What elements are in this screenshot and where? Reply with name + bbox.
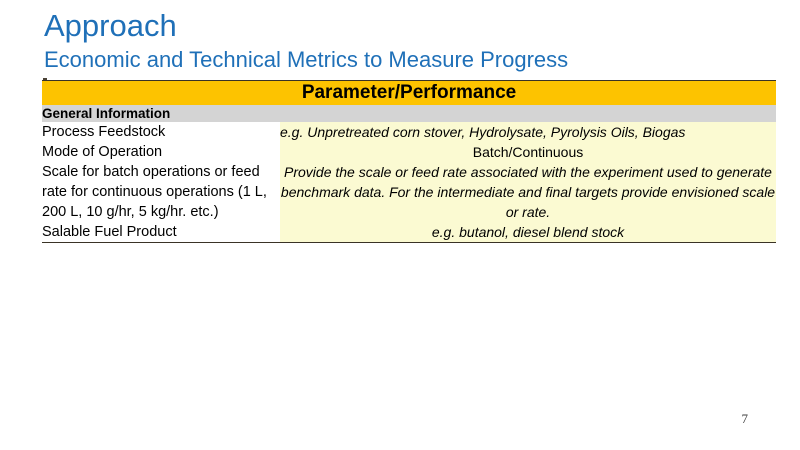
row-value-salable-fuel-product: e.g. butanol, diesel blend stock — [280, 222, 776, 243]
section-label-cell: General Information — [42, 105, 776, 122]
table-row: Scale for batch operations or feed rate … — [42, 162, 776, 222]
row-label-process-feedstock: Process Feedstock — [42, 122, 280, 142]
row-label-scale-or-feed-rate: Scale for batch operations or feed rate … — [42, 162, 280, 222]
row-value-scale-or-feed-rate: Provide the scale or feed rate associate… — [280, 162, 776, 222]
row-label-mode-of-operation: Mode of Operation — [42, 142, 280, 162]
slide-heading: Approach Economic and Technical Metrics … — [44, 8, 784, 74]
page-title: Approach — [44, 8, 784, 44]
page-number: 7 — [742, 411, 749, 427]
table-header-cell: Parameter/Performance — [42, 81, 776, 106]
table-section-row: General Information — [42, 105, 776, 122]
metrics-table: Parameter/Performance General Informatio… — [42, 80, 776, 243]
row-label-salable-fuel-product: Salable Fuel Product — [42, 222, 280, 243]
row-value-mode-of-operation: Batch/Continuous — [280, 142, 776, 162]
table-header-row: Parameter/Performance — [42, 81, 776, 106]
page-subtitle: Economic and Technical Metrics to Measur… — [44, 46, 784, 74]
row-value-process-feedstock: e.g. Unpretreated corn stover, Hydrolysa… — [280, 122, 776, 142]
table-row: Salable Fuel Product e.g. butanol, diese… — [42, 222, 776, 243]
table-row: Process Feedstock e.g. Unpretreated corn… — [42, 122, 776, 142]
table-row: Mode of Operation Batch/Continuous — [42, 142, 776, 162]
